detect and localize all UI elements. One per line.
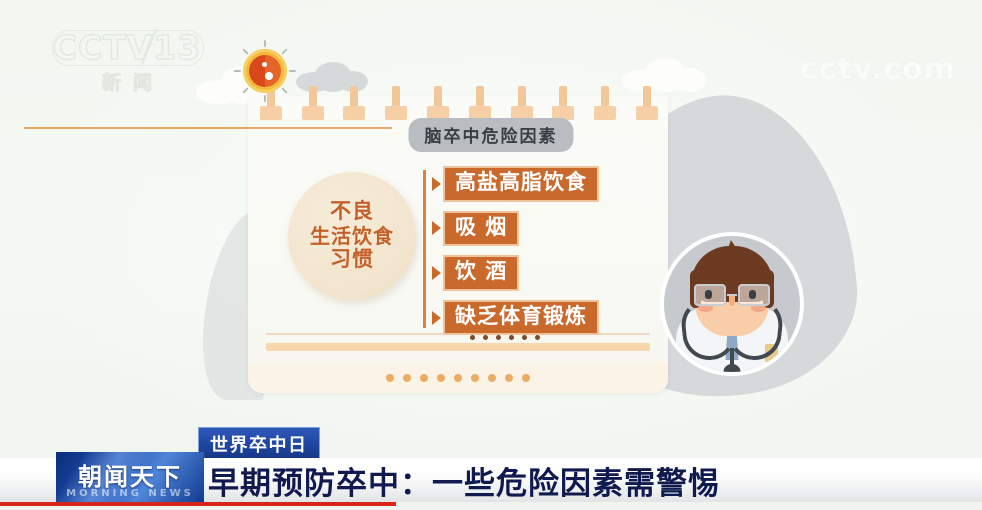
binder-tab [469, 86, 491, 120]
binder-tab [385, 86, 407, 120]
cctv-logo-text: CCTV13 [44, 28, 210, 67]
binder-tab [594, 86, 616, 120]
notepad-footer [248, 363, 668, 393]
arrow-right-icon [432, 221, 441, 235]
badge-line-3: 习惯 [330, 248, 374, 272]
arrow-right-icon [432, 311, 441, 325]
arrow-right-icon [432, 266, 441, 280]
notepad-rule-thick [266, 343, 650, 351]
risk-factor-item: 缺乏体育锻炼 [432, 300, 599, 336]
notepad-binder-tabs [250, 84, 668, 120]
badge-line-1: 不良 [330, 200, 374, 224]
risk-factor-label: 高盐高脂饮食 [443, 166, 599, 202]
arrow-right-icon [432, 177, 441, 191]
risk-factor-label: 吸 烟 [443, 211, 519, 247]
risk-factor-list: 高盐高脂饮食 吸 烟 饮 酒 缺乏体育锻炼 [432, 166, 599, 335]
notepad-top-rule [24, 127, 392, 129]
accent-red-line [0, 502, 396, 506]
avatar-ring [660, 232, 804, 376]
risk-factor-label: 缺乏体育锻炼 [443, 300, 599, 336]
broadcast-screenshot: CCTV13 新闻 cctv.com [0, 0, 982, 510]
risk-factor-label: 饮 酒 [443, 255, 519, 291]
doctor-avatar [660, 232, 804, 376]
binder-tab [302, 86, 324, 120]
factor-connector-line [423, 170, 426, 328]
program-name-en: MORNING NEWS [56, 488, 204, 499]
infographic-title: 脑卒中危险因素 [409, 118, 574, 152]
site-watermark: cctv.com [800, 52, 956, 87]
lower-third-banner: 世界卒中日 早期预防卒中：一些危险因素需警惕 朝闻天下 MORNING NEWS [0, 428, 982, 510]
notepad-footer-dots [386, 374, 530, 382]
cctv-logo-cn: 新闻 [44, 68, 210, 95]
risk-factor-item: 吸 烟 [432, 211, 599, 247]
binder-tab [636, 86, 658, 120]
continuation-dots [470, 335, 540, 340]
risk-category-badge: 不良 生活饮食 习惯 [288, 172, 416, 300]
program-name-cn: 朝闻天下 [56, 457, 204, 492]
binder-tab [552, 86, 574, 120]
risk-factor-item: 饮 酒 [432, 255, 599, 291]
badge-line-2: 生活饮食 [310, 225, 394, 247]
binder-tab [343, 86, 365, 120]
cctv-channel-watermark: CCTV13 新闻 [44, 26, 210, 98]
binder-tab [511, 86, 533, 120]
sun-icon [234, 40, 296, 102]
stethoscope-bell [724, 364, 741, 376]
headline-text: 早期预防卒中：一些危险因素需警惕 [208, 458, 720, 502]
binder-tab [427, 86, 449, 120]
risk-factor-item: 高盐高脂饮食 [432, 166, 599, 202]
program-logo: 朝闻天下 MORNING NEWS [56, 452, 204, 502]
